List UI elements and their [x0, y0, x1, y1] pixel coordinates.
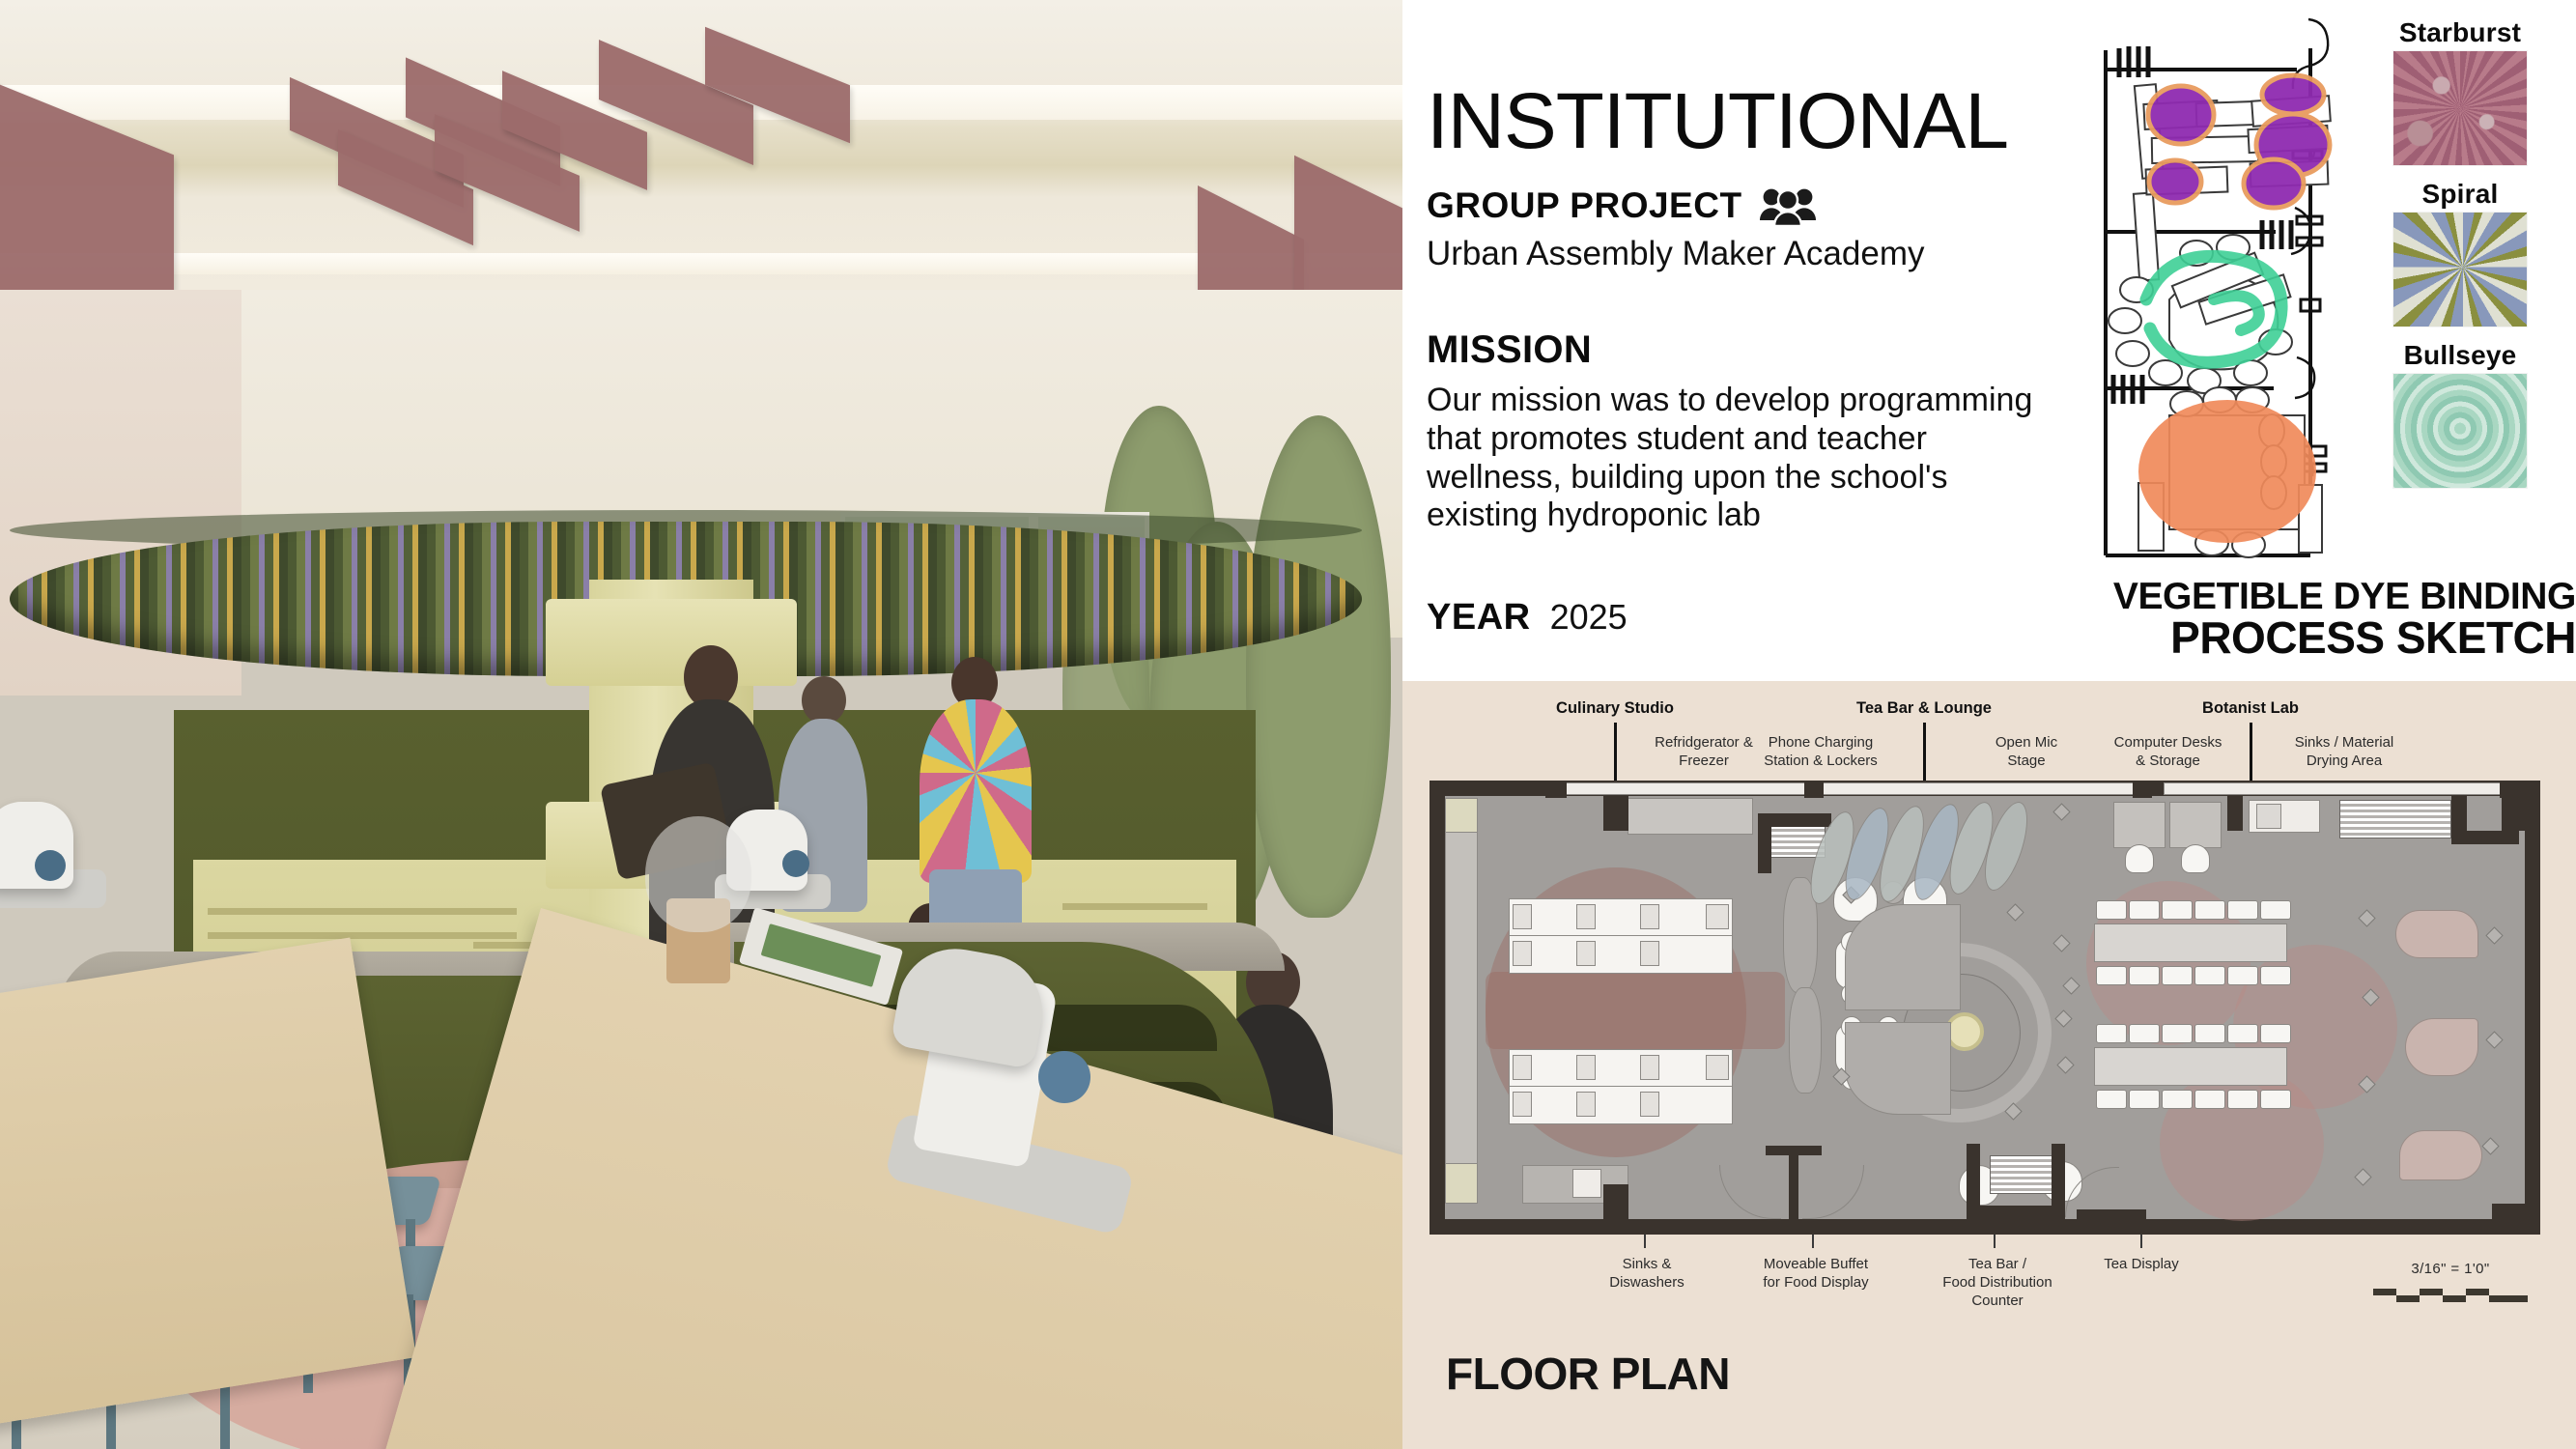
exterior-wall-bottom	[1430, 1219, 2540, 1235]
lab-stool	[2194, 966, 2225, 985]
computer-desk	[2113, 802, 2166, 848]
scale-bar	[2373, 1289, 2528, 1304]
lab-stool	[2194, 1024, 2225, 1043]
kitchen-shelf	[1062, 903, 1207, 910]
lab-stool	[2129, 1024, 2160, 1043]
window-band	[2164, 782, 2502, 795]
drawing-scale: 3/16" = 1'0"	[2344, 1261, 2557, 1304]
project-category-title: INSTITUTIONAL	[1427, 82, 2008, 161]
person	[920, 699, 1032, 883]
wall-segment	[1603, 1184, 1628, 1221]
floor-plan-drawing	[1430, 781, 2540, 1235]
lab-stool	[2260, 966, 2291, 985]
wall-pier	[2502, 796, 2525, 831]
cooktop	[1513, 941, 1532, 966]
cooktop	[1576, 1092, 1596, 1117]
mission-text: Our mission was to develop programming t…	[1427, 382, 2054, 535]
zone-label-tea-bar-lounge: Tea Bar & Lounge	[1789, 698, 2059, 719]
kitchen-shelf	[208, 932, 517, 939]
wall-segment	[2451, 831, 2519, 844]
window-band	[1816, 782, 2135, 795]
project-board: INSTITUTIONAL GROUP PROJECT Urban Assemb…	[0, 0, 2576, 1449]
curved-bench	[1845, 1022, 1951, 1115]
callout-sinks-dishwashers: Sinks & Diswashers	[1565, 1256, 1729, 1293]
scale-segment	[2489, 1295, 2528, 1302]
curved-partition	[1789, 987, 1822, 1094]
wall-pier	[2133, 781, 2152, 798]
floor-plan-title: FLOOR PLAN	[1446, 1348, 1730, 1400]
dye-section-heading: VEGETIBLE DYE BINDING PROCESS SKETCH	[2069, 578, 2576, 660]
callout-sinks-drying-area: Sinks / Material Drying Area	[2257, 734, 2431, 771]
lab-stool	[2096, 900, 2127, 920]
curved-bench	[1845, 904, 1961, 1010]
cooktop	[1640, 941, 1659, 966]
callout-tea-display: Tea Display	[2069, 1256, 2214, 1274]
sink-basin	[2256, 804, 2281, 829]
zone-fill-culinary-2	[1486, 972, 1785, 1049]
callout-computer-desks-storage: Computer Desks & Storage	[2079, 734, 2257, 771]
ceiling-light-strip-2	[0, 253, 1402, 274]
locker-end	[1445, 1163, 1478, 1204]
lab-stool	[2129, 1090, 2160, 1109]
mission-heading: MISSION	[1427, 328, 1592, 372]
tea-display	[1945, 1012, 1984, 1051]
callout-moveable-buffet: Moveable Buffet for Food Display	[1731, 1256, 1901, 1293]
wall-pier	[2492, 1204, 2525, 1235]
stage-wall	[1967, 1144, 1980, 1207]
scale-segment	[2420, 1289, 2443, 1295]
culinary-island	[1509, 898, 1733, 937]
project-type-label: GROUP PROJECT	[1427, 185, 1742, 226]
swatch-label: Spiral	[2364, 179, 2557, 210]
scale-segment	[2396, 1295, 2420, 1302]
dye-heading-line1: VEGETIBLE DYE BINDING	[2069, 578, 2576, 615]
interior-rendering	[0, 0, 1402, 1449]
cooktop	[1640, 1055, 1659, 1080]
cooktop	[1640, 1092, 1659, 1117]
wall-pier	[1545, 781, 1567, 798]
window-band	[1565, 782, 1806, 795]
exterior-wall-right	[2525, 781, 2540, 1235]
drying-rack	[2339, 800, 2451, 838]
desk-chair	[2125, 844, 2154, 873]
project-type-row: GROUP PROJECT	[1427, 185, 1818, 226]
lab-stool	[2162, 1090, 2193, 1109]
lab-stool	[2129, 900, 2160, 920]
lab-stool	[2096, 966, 2127, 985]
lab-stool	[2129, 966, 2160, 985]
group-people-icon	[1758, 185, 1818, 226]
wall-pier	[1804, 781, 1824, 798]
kitchen-shelf	[208, 908, 517, 915]
client-name: Urban Assembly Maker Academy	[1427, 235, 1924, 273]
glass-dome	[645, 816, 751, 932]
callout-tea-bar-counter: Tea Bar / Food Distribution Counter	[1912, 1256, 2082, 1310]
wall-segment	[2227, 796, 2243, 831]
culinary-island	[1509, 1049, 1733, 1088]
lab-bench	[2094, 923, 2287, 962]
swatch-starburst	[2393, 51, 2527, 165]
wall-segment	[1603, 796, 1628, 831]
swatch-label: Starburst	[2364, 17, 2557, 48]
scale-segment	[2373, 1289, 2396, 1295]
green-wall-panel	[1246, 415, 1391, 918]
locker-end	[1445, 798, 1478, 833]
lab-stool	[2260, 1024, 2291, 1043]
lounge-pod	[2405, 1018, 2478, 1076]
project-info: INSTITUTIONAL GROUP PROJECT Urban Assemb…	[1402, 0, 2576, 681]
wall-pier	[2077, 1209, 2146, 1235]
microscope-eyepiece	[1038, 1051, 1090, 1103]
computer-desk	[2169, 802, 2222, 848]
lab-bench	[2094, 1047, 2287, 1086]
dye-heading-line2: PROCESS SKETCH	[2069, 615, 2576, 660]
cooktop	[1640, 904, 1659, 929]
cooktop	[1576, 904, 1596, 929]
microscope-lens	[782, 850, 809, 877]
stage-wall	[1967, 1206, 2065, 1221]
lab-stool	[2227, 1024, 2258, 1043]
cooktop	[1576, 1055, 1596, 1080]
scale-segment	[2466, 1289, 2489, 1295]
swatch-bullseye	[2393, 374, 2527, 488]
zone-label-culinary-studio: Culinary Studio	[1480, 698, 1750, 719]
lab-stool	[2096, 1090, 2127, 1109]
sink-basin	[1572, 1169, 1601, 1198]
year-value: 2025	[1550, 597, 1628, 638]
lounge-pod	[2395, 910, 2478, 958]
info-panel: INSTITUTIONAL GROUP PROJECT Urban Assemb…	[1402, 0, 2576, 1449]
lab-table	[0, 937, 416, 1438]
lab-stool	[2194, 900, 2225, 920]
lab-stool	[2162, 1024, 2193, 1043]
lab-stool	[2227, 966, 2258, 985]
zone-label-botanist-lab: Botanist Lab	[2115, 698, 2386, 719]
culinary-island	[1509, 935, 1733, 974]
open-mic-stage-steps	[1990, 1155, 2055, 1194]
lab-stool	[2162, 900, 2193, 920]
swatch-spiral	[2393, 213, 2527, 327]
lab-stool	[2162, 966, 2193, 985]
cooktop	[1513, 1092, 1532, 1117]
microscope-lens	[35, 850, 66, 881]
scale-text: 3/16" = 1'0"	[2344, 1261, 2557, 1277]
year-row: YEAR 2025	[1427, 597, 1628, 639]
cooktop	[1576, 941, 1596, 966]
sink	[1706, 904, 1729, 929]
callout-phone-charging-lockers: Phone Charging Station & Lockers	[1729, 734, 1912, 771]
cooktop	[1513, 904, 1532, 929]
partition-wall	[1789, 1146, 1798, 1221]
desk-chair	[2181, 844, 2210, 873]
locker-strip	[1445, 798, 1478, 1204]
person-head	[802, 676, 846, 724]
display-column-shelf	[546, 599, 797, 686]
counter-run-top	[1628, 798, 1753, 835]
stage-wall	[2052, 1144, 2065, 1207]
culinary-island	[1509, 1086, 1733, 1124]
exterior-wall-left	[1430, 781, 1445, 1235]
lab-stool	[2194, 1090, 2225, 1109]
microscope	[0, 802, 73, 889]
cooktop	[1513, 1055, 1532, 1080]
lounge-pod	[2399, 1130, 2482, 1180]
lab-stool	[2096, 1024, 2127, 1043]
swatch-label: Bullseye	[2364, 340, 2557, 371]
dye-swatch-list: Starburst Spiral Bullseye	[2364, 17, 2557, 501]
lab-stool	[2227, 1090, 2258, 1109]
scale-segment	[2443, 1295, 2466, 1302]
year-label: YEAR	[1427, 597, 1531, 639]
wall-nook	[1758, 813, 1831, 827]
lab-stool	[2260, 900, 2291, 920]
lab-stool	[2260, 1090, 2291, 1109]
sink	[1706, 1055, 1729, 1080]
process-sketch-drawing	[2069, 10, 2359, 589]
lab-stool	[2227, 900, 2258, 920]
